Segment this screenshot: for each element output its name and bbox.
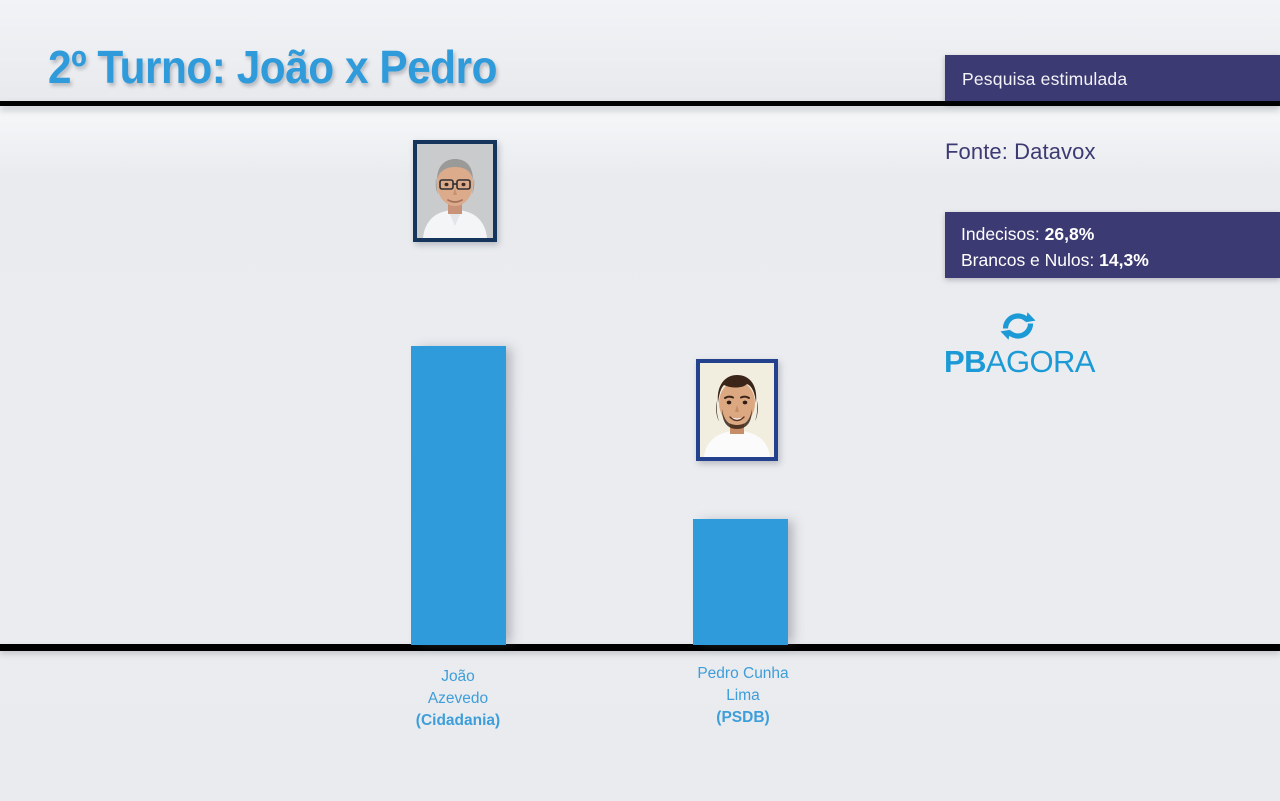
- infographic-canvas: 2º Turno: João x Pedro Pesquisa estimula…: [0, 0, 1280, 801]
- refresh-sync-icon: [997, 308, 1039, 344]
- bar-joao-azevedo: [411, 346, 506, 645]
- brand-wordmark: PBAGORA: [944, 346, 1092, 377]
- joao-azevedo-portrait: [417, 144, 493, 238]
- chart-baseline-axis: [0, 644, 1280, 651]
- source-label: Fonte: Datavox: [945, 139, 1096, 165]
- candidate-label-joao-azevedo: João Azevedo (Cidadania): [378, 666, 538, 732]
- brand-name-bold: PB: [944, 344, 986, 379]
- blank-null-row: Brancos e Nulos: 14,3%: [961, 247, 1280, 273]
- other-responses-box: Indecisos: 26,8% Brancos e Nulos: 14,3%: [945, 212, 1280, 278]
- undecided-label: Indecisos:: [961, 224, 1040, 244]
- blank-null-label: Brancos e Nulos:: [961, 250, 1094, 270]
- candidate-first-name-joao: João: [378, 666, 538, 688]
- brand-logo: PBAGORA: [944, 308, 1092, 377]
- candidate-last-name-pedro: Lima: [663, 685, 823, 707]
- bar-pedro-cunha-lima: [693, 519, 788, 645]
- survey-type-label: Pesquisa estimulada: [962, 69, 1127, 90]
- candidate-last-name-joao: Azevedo: [378, 688, 538, 710]
- candidate-party-joao: (Cidadania): [378, 710, 538, 732]
- candidate-party-pedro: (PSDB): [663, 707, 823, 729]
- undecided-value: 26,8%: [1045, 224, 1095, 244]
- candidate-first-name-pedro: Pedro Cunha: [663, 663, 823, 685]
- candidate-photo-joao-azevedo: [413, 140, 497, 242]
- header-divider-rule: [0, 101, 1280, 106]
- page-title: 2º Turno: João x Pedro: [48, 44, 497, 90]
- candidate-label-pedro-cunha-lima: Pedro Cunha Lima (PSDB): [663, 663, 823, 729]
- candidate-photo-pedro-cunha-lima: [696, 359, 778, 461]
- undecided-row: Indecisos: 26,8%: [961, 221, 1280, 247]
- survey-type-badge: Pesquisa estimulada: [945, 55, 1280, 103]
- brand-name-light: AGORA: [986, 344, 1095, 379]
- blank-null-value: 14,3%: [1099, 250, 1149, 270]
- pedro-cunha-lima-portrait: [700, 363, 774, 457]
